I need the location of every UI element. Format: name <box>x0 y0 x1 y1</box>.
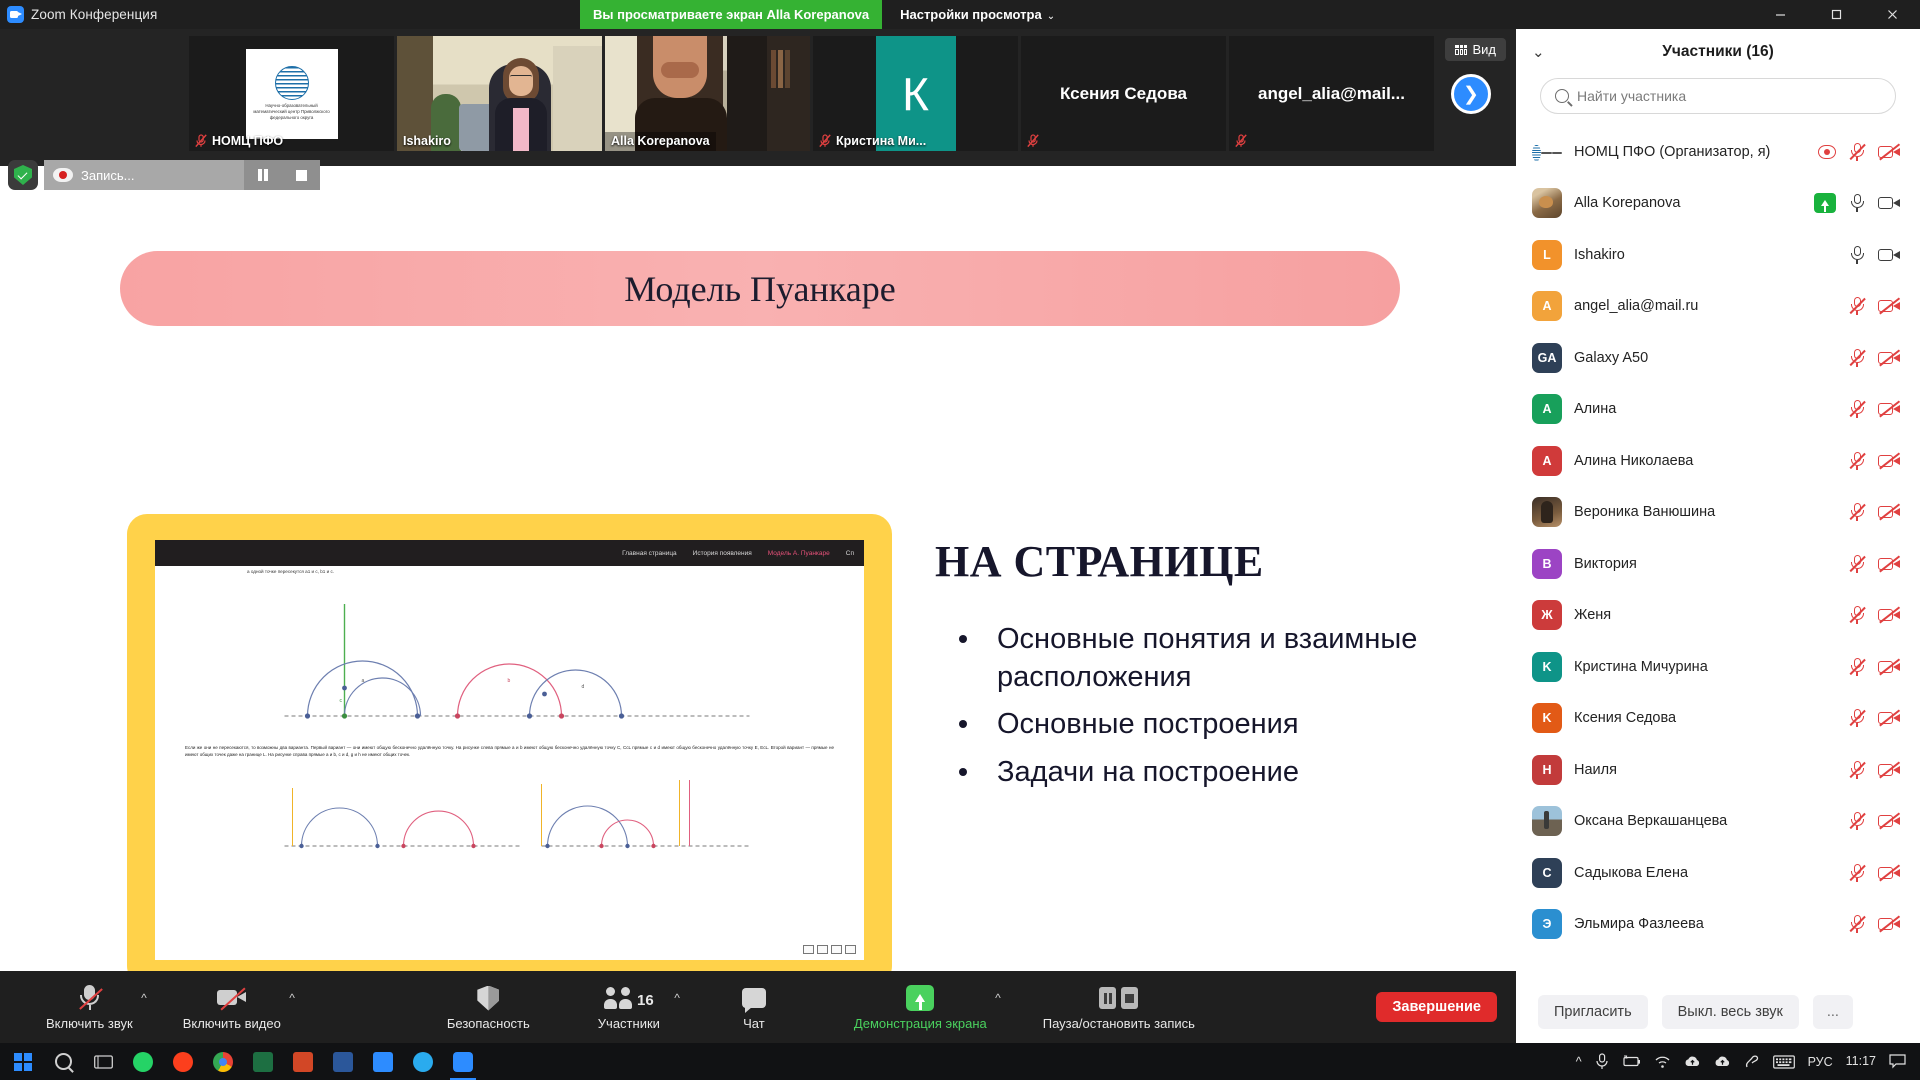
shared-screen-area[interactable]: Модель Пуанкаре Главная страница История… <box>0 166 1516 971</box>
toolbar-participants-button[interactable]: 16 Участники ^ <box>590 971 668 1043</box>
avatar: K <box>1532 703 1562 733</box>
participant-name: Алина Николаева <box>1574 453 1837 469</box>
video-tile-nomc[interactable]: Научно-образовательный математический це… <box>189 36 394 151</box>
slide-section-heading: НА СТРАНИЦЕ <box>935 536 1455 587</box>
participant-row[interactable]: Вероника Ванюшина <box>1532 487 1904 539</box>
webpage-paragraph: Если же они не пересекаются, то возможны… <box>155 744 864 758</box>
participant-row[interactable]: Alla Korepanova <box>1532 178 1904 230</box>
camera-muted-icon[interactable] <box>1878 144 1900 160</box>
monitor-screen: Главная страница История появления Модел… <box>155 540 864 960</box>
participant-row[interactable]: Оксана Веркашанцева <box>1532 796 1904 848</box>
svg-text:c: c <box>340 698 343 704</box>
participant-name: Наиля <box>1574 762 1837 778</box>
participant-icons <box>1849 451 1904 471</box>
avatar: A <box>1532 394 1562 424</box>
camera-muted-icon[interactable] <box>1878 710 1900 726</box>
chevron-down-icon: ⌄ <box>1047 11 1055 22</box>
more-options-button[interactable]: ... <box>1813 995 1853 1029</box>
system-tray: ^ <box>1576 1053 1920 1070</box>
recording-label: Запись... <box>81 168 135 183</box>
bullet-item: Основные построения <box>935 706 1455 744</box>
camera-muted-icon[interactable] <box>1878 556 1900 572</box>
nomc-logo-caption: Научно-образовательный математический це… <box>252 103 332 121</box>
taskbar-app-chrome[interactable] <box>204 1043 242 1080</box>
tray-expand-icon[interactable]: ^ <box>1576 1055 1582 1069</box>
participant-row[interactable]: B Виктория <box>1532 538 1904 590</box>
camera-muted-icon[interactable] <box>1878 813 1900 829</box>
participants-panel-footer: Пригласить Выкл. весь звук ... <box>1516 981 1920 1043</box>
notifications-icon[interactable] <box>1889 1054 1906 1069</box>
avatar-initial: K <box>1542 711 1551 725</box>
toolbar-participants-label: Участники <box>598 1016 660 1031</box>
excel-icon <box>253 1052 273 1072</box>
participant-icons <box>1849 657 1904 677</box>
participant-name: Вероника Ванюшина <box>1574 504 1837 520</box>
slide-title-text: Модель Пуанкаре <box>624 268 895 310</box>
pause-stop-icon <box>1099 983 1138 1013</box>
participant-icons <box>1849 605 1904 625</box>
participants-panel: ⌄ Участники (16) НОМЦ ПФО (Организатор, … <box>1516 29 1920 1043</box>
avatar-initial: Э <box>1543 917 1552 931</box>
toolbar-pause-stop-recording-button[interactable]: Пауза/остановить запись <box>1035 971 1203 1043</box>
avatar: Э <box>1532 909 1562 939</box>
avatar: A <box>1532 291 1562 321</box>
camera-off-icon <box>217 983 247 1013</box>
stop-icon <box>1121 987 1138 1009</box>
avatar-initial: A <box>1542 402 1551 416</box>
start-button[interactable] <box>4 1043 42 1080</box>
mute-all-button[interactable]: Выкл. весь звук <box>1662 995 1799 1029</box>
avatar <box>1532 188 1562 218</box>
participant-icons <box>1849 245 1904 265</box>
clock-time: 11:17 <box>1846 1054 1876 1068</box>
view-options-label: Настройки просмотра <box>900 7 1042 22</box>
taskbar-apps <box>0 1043 482 1080</box>
video-tile-name-row: Ishakiro <box>397 132 457 151</box>
chat-icon <box>742 983 766 1013</box>
participant-name: НОМЦ ПФО (Организатор, я) <box>1574 144 1806 160</box>
video-tile-ishakiro[interactable]: Ishakiro <box>397 36 602 151</box>
taskbar-app-powerpoint[interactable] <box>284 1043 322 1080</box>
participant-icons <box>1814 193 1904 213</box>
filmstrip-next-button[interactable]: ❯ <box>1451 74 1491 114</box>
video-filmstrip: Научно-образовательный математический це… <box>0 29 1516 166</box>
participant-icons <box>1849 296 1904 316</box>
meeting-toolbar: Включить звук ^ Включить видео ^ Безопас… <box>0 971 1516 1043</box>
grid-view-icon <box>1455 45 1467 55</box>
zoom-meeting-window: Zoom Конференция Вы просматриваете экран… <box>0 0 1920 1080</box>
recording-status: Запись... <box>44 160 244 190</box>
avatar-initial: Ж <box>1541 608 1552 622</box>
cloud-upload-icon[interactable] <box>1684 1055 1701 1068</box>
webpage-figure-2 <box>155 758 864 870</box>
camera-muted-icon[interactable] <box>1878 865 1900 881</box>
monitor-illustration: Главная страница История появления Модел… <box>127 514 892 971</box>
camera-muted-icon[interactable] <box>1878 659 1900 675</box>
avatar-initial: A <box>1542 299 1551 313</box>
avatar: K <box>1532 652 1562 682</box>
pause-icon <box>1099 987 1116 1009</box>
mic-muted-icon[interactable] <box>1849 296 1865 316</box>
toolbar-chat-button[interactable]: Чат <box>718 971 790 1043</box>
toolbar-chat-label: Чат <box>743 1016 765 1031</box>
search-button[interactable] <box>44 1043 82 1080</box>
monitor-frame: Главная страница История появления Модел… <box>127 514 892 971</box>
participants-list[interactable]: НОМЦ ПФО (Организатор, я) Alla Korepanov… <box>1516 126 1920 981</box>
camera-muted-icon[interactable] <box>1878 298 1900 314</box>
participant-name: Galaxy A50 <box>1574 350 1837 366</box>
camera-icon[interactable] <box>1878 247 1900 263</box>
participant-name: angel_alia@mail.ru <box>1574 298 1837 314</box>
participant-icons <box>1818 142 1904 162</box>
powerpoint-icon <box>293 1052 313 1072</box>
webpage-pagination[interactable] <box>803 945 856 954</box>
keyboard-layout-icon[interactable] <box>1773 1055 1795 1069</box>
slide-bullet-list: Основные понятия и взаимные расположения… <box>935 621 1455 792</box>
participant-icons <box>1849 708 1904 728</box>
slide-bullet-section: НА СТРАНИЦЕ Основные понятия и взаимные … <box>935 536 1455 802</box>
slide-title-banner: Модель Пуанкаре <box>120 251 1400 326</box>
window-controls <box>1710 0 1920 29</box>
participant-name: Садыкова Елена <box>1574 865 1837 881</box>
stop-icon <box>296 170 307 181</box>
task-view-icon <box>94 1054 113 1070</box>
svg-text:d: d <box>582 684 585 690</box>
search-input[interactable] <box>1577 88 1881 104</box>
keyboard-language[interactable]: РУС <box>1808 1055 1833 1069</box>
taskbar-app-whatsapp[interactable] <box>124 1043 162 1080</box>
search-icon <box>55 1053 72 1070</box>
participant-row[interactable]: L Ishakiro <box>1532 229 1904 281</box>
toolbar-unmute-button[interactable]: Включить звук ^ <box>38 971 141 1043</box>
participant-icons <box>1849 554 1904 574</box>
video-tile-name-row: НОМЦ ПФО <box>189 132 289 151</box>
taskbar-app-yandex[interactable] <box>164 1043 202 1080</box>
chevron-up-icon[interactable]: ^ <box>995 991 1001 1005</box>
toolbar-share-screen-button[interactable]: Демонстрация экрана ^ <box>846 971 995 1043</box>
view-layout-label: Вид <box>1472 42 1496 57</box>
participant-name: Женя <box>1574 607 1837 623</box>
participants-panel-title: Участники (16) <box>1516 43 1920 61</box>
svg-text:a: a <box>362 678 365 684</box>
participant-row[interactable]: GA Galaxy A50 <box>1532 332 1904 384</box>
avatar <box>1532 137 1562 167</box>
cloud-sync-icon[interactable] <box>1714 1055 1731 1068</box>
video-tile-name-row: Кристина Ми... <box>813 132 932 151</box>
title-bar-left: Zoom Конференция <box>0 6 580 23</box>
chevron-up-icon[interactable]: ^ <box>141 991 147 1005</box>
toolbar-unmute-label: Включить звук <box>46 1016 133 1031</box>
mic-muted-icon[interactable] <box>1849 142 1865 162</box>
battery-charging-icon[interactable] <box>1622 1055 1641 1068</box>
mic-off-icon <box>78 983 100 1013</box>
poincare-diagram-2 <box>155 758 864 870</box>
shield-icon <box>477 983 499 1013</box>
avatar <box>1532 806 1562 836</box>
participant-row[interactable]: Ж Женя <box>1532 590 1904 642</box>
shield-check-icon <box>14 165 32 185</box>
participants-count: 16 <box>637 992 654 1009</box>
svg-text:b: b <box>508 678 511 684</box>
participant-row[interactable]: K Кристина Мичурина <box>1532 641 1904 693</box>
video-tile-name-row: Alla Korepanova <box>605 132 716 151</box>
mic-muted-icon[interactable] <box>1849 348 1865 368</box>
windows-logo-icon <box>14 1053 32 1071</box>
recording-badge-icon <box>1818 145 1836 159</box>
view-options-button[interactable]: Настройки просмотра⌄ <box>882 0 1069 29</box>
avatar-initial: A <box>1542 454 1551 468</box>
mic-muted-icon[interactable] <box>1849 811 1865 831</box>
yandex-icon <box>173 1052 193 1072</box>
participant-name: Ishakiro <box>1574 247 1837 263</box>
participant-name-placeholder: angel_alia@mail... <box>1229 36 1434 151</box>
taskbar-app-zoom[interactable] <box>444 1043 482 1080</box>
toolbar-security-button[interactable]: Безопасность <box>439 971 538 1043</box>
camera-muted-icon[interactable] <box>1878 401 1900 417</box>
mic-muted-icon[interactable] <box>1849 708 1865 728</box>
taskbar-app-word[interactable] <box>324 1043 362 1080</box>
participant-row[interactable]: H Наиля <box>1532 744 1904 796</box>
mic-muted-icon[interactable] <box>1849 399 1865 419</box>
nomc-logo-icon: Научно-образовательный математический це… <box>246 49 338 139</box>
avatar-initial: H <box>1542 763 1551 777</box>
zoom-logo-icon <box>7 6 24 23</box>
camera-muted-icon[interactable] <box>1878 350 1900 366</box>
recording-stop-button[interactable] <box>282 160 320 190</box>
recording-control-bar: Запись... <box>8 160 320 190</box>
word-icon <box>333 1052 353 1072</box>
participant-icons <box>1849 502 1904 522</box>
participants-panel-header: ⌄ Участники (16) <box>1516 29 1920 74</box>
participant-name: Alla Korepanova <box>1574 195 1802 211</box>
bullet-item: Основные понятия и взаимные расположения <box>935 621 1455 696</box>
webpage-figure-1: a c b d <box>155 576 864 744</box>
poincare-diagram-1: a c b d <box>155 576 864 744</box>
security-shield-button[interactable] <box>8 160 38 190</box>
avatar: A <box>1532 446 1562 476</box>
participant-name: Ксения Седова <box>1574 710 1837 726</box>
bullet-item: Задачи на построение <box>935 754 1455 792</box>
avatar: H <box>1532 755 1562 785</box>
nav-item-history: История появления <box>693 550 752 557</box>
camera-muted-icon[interactable] <box>1878 453 1900 469</box>
whatsapp-icon <box>133 1052 153 1072</box>
participant-row[interactable]: Э Эльмира Фазлеева <box>1532 899 1904 951</box>
participant-row[interactable]: K Ксения Седова <box>1532 693 1904 745</box>
mic-muted-icon[interactable] <box>1849 502 1865 522</box>
mic-muted-icon[interactable] <box>1849 914 1865 934</box>
video-tile-label: Alla Korepanova <box>611 134 710 148</box>
participant-name: Кристина Мичурина <box>1574 659 1837 675</box>
video-tile-kristina[interactable]: К Кристина Ми... <box>813 36 1018 151</box>
app-title: Zoom Конференция <box>31 7 157 22</box>
video-tile-label: НОМЦ ПФО <box>212 134 283 148</box>
nav-item-home: Главная страница <box>622 550 677 557</box>
search-icon <box>1555 89 1569 103</box>
globe-icon <box>275 66 309 100</box>
invite-button[interactable]: Пригласить <box>1538 995 1648 1029</box>
chevron-up-icon[interactable]: ^ <box>289 991 295 1005</box>
recording-pause-button[interactable] <box>244 160 282 190</box>
mic-muted-icon[interactable] <box>1849 605 1865 625</box>
record-indicator-icon <box>53 168 73 182</box>
video-tile-label: Ishakiro <box>403 134 451 148</box>
zoom-icon <box>453 1052 473 1072</box>
raise-hand-badge-icon[interactable] <box>1814 193 1836 213</box>
taskbar-app-store[interactable] <box>364 1043 402 1080</box>
webpage-top-note: а одной точке пересекутся а1 и с, b1 и c… <box>155 566 864 576</box>
avatar-letter: К <box>902 67 929 121</box>
participant-icons <box>1849 863 1904 883</box>
participant-row[interactable]: A angel_alia@mail.ru <box>1532 281 1904 333</box>
participant-row[interactable]: C Садыкова Елена <box>1532 847 1904 899</box>
chrome-icon <box>213 1052 233 1072</box>
avatar: GA <box>1532 343 1562 373</box>
avatar: C <box>1532 858 1562 888</box>
avatar <box>1532 497 1562 527</box>
chevron-up-icon[interactable]: ^ <box>674 991 680 1005</box>
toolbar-start-video-button[interactable]: Включить видео ^ <box>175 971 289 1043</box>
video-tile-name-row <box>1021 132 1045 151</box>
mic-muted-icon[interactable] <box>1849 863 1865 883</box>
mic-muted-icon <box>1027 134 1039 148</box>
participants-search-box[interactable] <box>1540 78 1896 114</box>
pause-icon <box>258 169 268 181</box>
toolbar-security-label: Безопасность <box>447 1016 530 1031</box>
windows-taskbar: ^ <box>0 1043 1920 1080</box>
globe-icon <box>1532 145 1541 161</box>
toolbar-share-screen-label: Демонстрация экрана <box>854 1016 987 1031</box>
nav-item-poincare-model: Модель А. Пуанкаре <box>768 550 830 557</box>
camera-muted-icon[interactable] <box>1878 504 1900 520</box>
mic-muted-icon <box>819 134 831 148</box>
mic-icon[interactable] <box>1849 193 1865 213</box>
view-layout-button[interactable]: Вид <box>1445 38 1506 61</box>
participant-row[interactable]: A Алина Николаева <box>1532 435 1904 487</box>
screen-share-banner: Вы просматриваете экран Alla Korepanova <box>580 0 882 29</box>
participant-name: Оксана Веркашанцева <box>1574 813 1837 829</box>
taskbar-app-telegram[interactable] <box>404 1043 442 1080</box>
video-tile-label: Кристина Ми... <box>836 134 926 148</box>
maximize-button[interactable] <box>1808 0 1864 29</box>
mic-muted-icon <box>195 134 207 148</box>
microphone-icon[interactable] <box>1595 1053 1609 1070</box>
camera-muted-icon[interactable] <box>1878 762 1900 778</box>
video-tile-angel-alia[interactable]: angel_alia@mail... <box>1229 36 1434 151</box>
avatar-initial: K <box>1542 660 1551 674</box>
toolbar-start-video-label: Включить видео <box>183 1016 281 1031</box>
participant-icons <box>1849 914 1904 934</box>
camera-muted-icon[interactable] <box>1878 607 1900 623</box>
title-bar: Zoom Конференция Вы просматриваете экран… <box>0 0 1920 29</box>
participant-icons <box>1849 811 1904 831</box>
participant-name: Алина <box>1574 401 1837 417</box>
avatar: B <box>1532 549 1562 579</box>
participant-name-placeholder: Ксения Седова <box>1021 36 1226 151</box>
recording-panel: Запись... <box>44 160 320 190</box>
store-icon <box>373 1052 393 1072</box>
participant-name: Эльмира Фазлеева <box>1574 916 1837 932</box>
participant-icons <box>1849 348 1904 368</box>
page-thumb-4[interactable] <box>845 945 856 954</box>
participant-row[interactable]: НОМЦ ПФО (Организатор, я) <box>1532 126 1904 178</box>
avatar-initial: B <box>1542 557 1551 571</box>
title-bar-center: Вы просматриваете экран Alla Korepanova … <box>580 0 1710 29</box>
minimize-button[interactable] <box>1752 0 1808 29</box>
avatar-initial: GA <box>1538 351 1557 365</box>
avatar-initial: L <box>1543 248 1551 262</box>
toolbar-pause-stop-label: Пауза/остановить запись <box>1043 1016 1195 1031</box>
mic-muted-icon[interactable] <box>1849 451 1865 471</box>
participant-row[interactable]: A Алина <box>1532 384 1904 436</box>
share-screen-icon <box>906 983 934 1013</box>
wifi-icon[interactable] <box>1654 1055 1671 1069</box>
nav-item-more: Сп <box>846 550 854 557</box>
telegram-icon <box>413 1052 433 1072</box>
participants-search-wrap <box>1516 74 1920 126</box>
video-tile-alla-korepanova[interactable]: Alla Korepanova <box>605 36 810 151</box>
camera-muted-icon[interactable] <box>1878 916 1900 932</box>
taskbar-app-excel[interactable] <box>244 1043 282 1080</box>
camera-icon[interactable] <box>1878 195 1900 211</box>
collapse-chevron-icon[interactable]: ⌄ <box>1532 43 1545 61</box>
video-tile-ksenia-sedova[interactable]: Ксения Седова <box>1021 36 1226 151</box>
page-thumb-1[interactable] <box>803 945 814 954</box>
avatar: L <box>1532 240 1562 270</box>
mic-muted-icon <box>1235 134 1247 148</box>
mic-muted-icon[interactable] <box>1849 760 1865 780</box>
mic-muted-icon[interactable] <box>1849 657 1865 677</box>
page-thumb-2[interactable] <box>817 945 828 954</box>
mic-muted-icon[interactable] <box>1849 554 1865 574</box>
task-view-button[interactable] <box>84 1043 122 1080</box>
webpage-nav: Главная страница История появления Модел… <box>155 540 864 566</box>
pen-tool-icon[interactable] <box>1744 1054 1760 1069</box>
video-tile-name-row <box>1229 132 1253 151</box>
close-button[interactable] <box>1864 0 1920 29</box>
end-meeting-button[interactable]: Завершение <box>1376 992 1497 1022</box>
avatar-initial: C <box>1542 866 1551 880</box>
taskbar-clock[interactable]: 11:17 <box>1846 1054 1876 1068</box>
participant-name: Виктория <box>1574 556 1837 572</box>
participant-icons <box>1849 760 1904 780</box>
mic-icon[interactable] <box>1849 245 1865 265</box>
participant-icons <box>1849 399 1904 419</box>
avatar: Ж <box>1532 600 1562 630</box>
participants-icon: 16 <box>604 983 654 1013</box>
page-thumb-3[interactable] <box>831 945 842 954</box>
